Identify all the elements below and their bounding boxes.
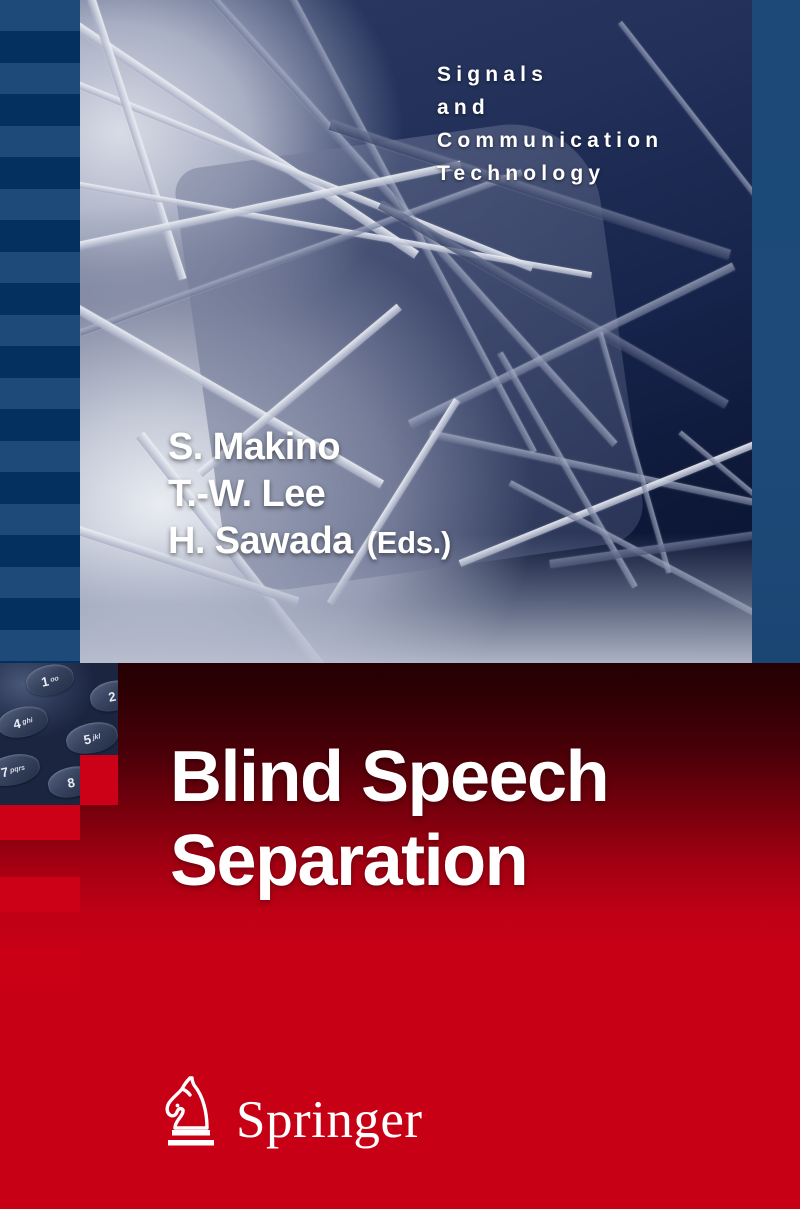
book-title-line: Blind Speech [170, 735, 730, 819]
book-title: Blind Speech Separation [170, 735, 730, 903]
left-blue-stripes [0, 0, 80, 663]
keypad-key-letters: pqrs [9, 764, 25, 774]
keypad-key-letters: ghi [22, 717, 34, 726]
keypad-key-digit: 7 [0, 764, 10, 780]
series-title: Signals and Communication Technology [437, 58, 752, 190]
keypad-key: 2 [87, 677, 118, 716]
keypad-key-digit: 5 [82, 731, 92, 747]
author-list: S. Makino T.-W. Lee H. Sawada(Eds.) [168, 424, 451, 566]
keypad-key: 4ghi [0, 702, 51, 742]
editor-note: (Eds.) [367, 525, 451, 560]
keypad-key-letters: oo [50, 675, 60, 684]
keypad-key-digit: 2 [107, 688, 117, 704]
publisher-name: Springer [236, 1094, 423, 1147]
publisher-logo: Springer [160, 1072, 423, 1153]
red-accent-block [80, 755, 118, 805]
author-name: T.-W. Lee [168, 471, 451, 518]
springer-knight-icon [160, 1072, 222, 1153]
keypad-key: 5jkl [63, 718, 118, 758]
series-title-line: and [437, 91, 752, 124]
series-title-line: Communication [437, 124, 752, 157]
series-title-line: Signals [437, 58, 752, 91]
keypad-key-digit: 1 [40, 673, 50, 689]
keypad-key: 7pqrs [0, 750, 43, 791]
keypad-key-digit: 8 [66, 774, 76, 790]
left-red-stripes [0, 805, 80, 1020]
author-name: H. Sawada [168, 520, 353, 562]
book-cover: Signals and Communication Technology S. … [0, 0, 800, 1209]
right-blue-band [752, 0, 800, 663]
author-name: S. Makino [168, 424, 451, 471]
book-title-line: Separation [170, 819, 730, 903]
keypad-key: 1oo [23, 663, 76, 700]
satellite-dish-photo: Signals and Communication Technology S. … [80, 0, 752, 663]
author-name-with-editor-note: H. Sawada(Eds.) [168, 518, 451, 566]
keypad-key-digit: 4 [12, 715, 22, 731]
series-title-line: Technology [437, 157, 752, 190]
keypad-key-letters: jkl [92, 733, 101, 741]
